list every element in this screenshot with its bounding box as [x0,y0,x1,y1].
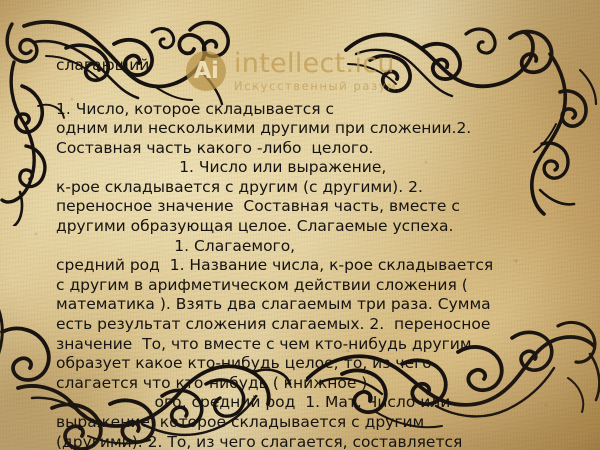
definition-block-2: 1. Число или выражение, к-рое складывает… [56,158,552,236]
definition-block-1: 1. Число, которое складывается с одним и… [56,100,552,159]
definition-block-3: 1. Слагаемого, средний род 1. Название ч… [56,237,552,394]
definition-block-4: ого, средний род 1. Мат. Число или выраж… [56,393,552,450]
presentation-slide: Ai intellect.icu Искусственный разум сла… [0,0,600,450]
headword: слагающий [56,58,552,74]
slide-text-content: слагающий 1. Число, которое складывается… [56,58,552,450]
